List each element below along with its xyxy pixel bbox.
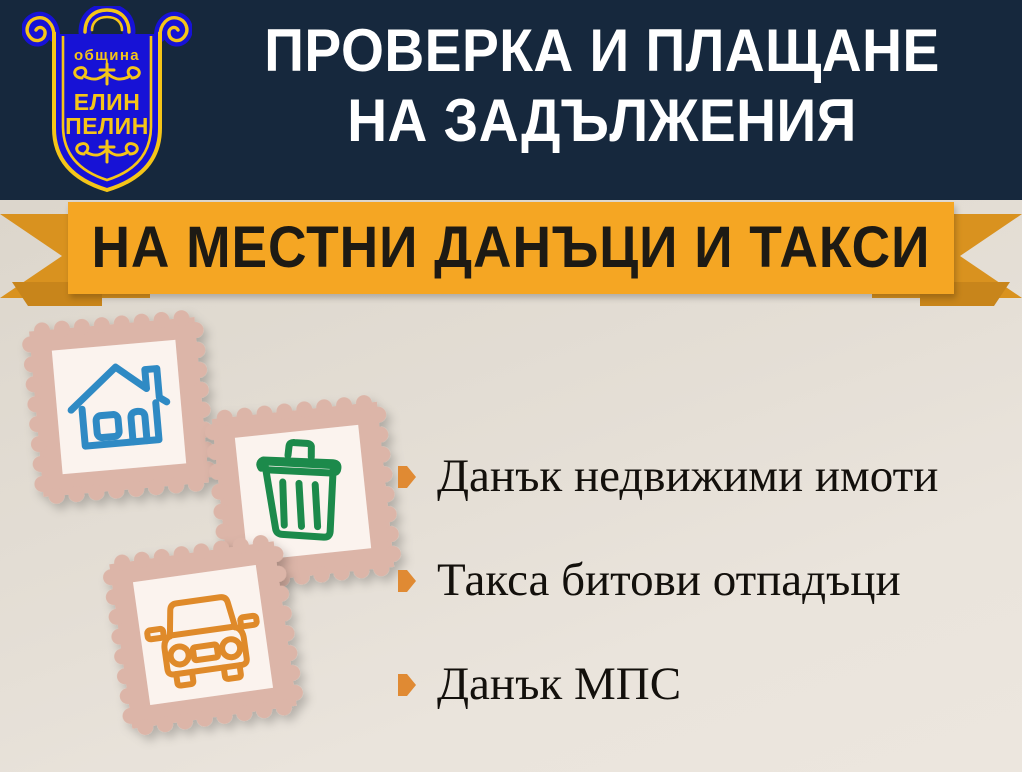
list-item[interactable]: Такса битови отпадъци (398, 528, 1008, 632)
svg-text:ПЕЛИН: ПЕЛИН (65, 113, 149, 139)
list-item-label: Такса битови отпадъци (437, 554, 901, 606)
list-item-label: Данък МПС (437, 658, 681, 710)
arrow-bullet-icon (398, 674, 416, 696)
stamp-card-house (16, 304, 222, 510)
list-item[interactable]: Данък недвижими имоти (398, 424, 1008, 528)
tax-type-list: Данък недвижими имоти Такса битови отпад… (398, 424, 1008, 736)
poster-canvas: община ЕЛИН ПЕЛИН ПРОВЕРКА И ПЛАЩАНЕ НА … (0, 0, 1022, 772)
svg-text:ЕЛИН: ЕЛИН (74, 89, 141, 115)
ribbon-banner: НА МЕСТНИ ДАНЪЦИ И ТАКСИ (68, 202, 954, 294)
coat-of-arms-icon: община ЕЛИН ПЕЛИН (22, 6, 192, 194)
ribbon-label: НА МЕСТНИ ДАНЪЦИ И ТАКСИ (92, 219, 931, 277)
page-title: ПРОВЕРКА И ПЛАЩАНЕ НА ЗАДЪЛЖЕНИЯ (196, 16, 1008, 156)
list-item-label: Данък недвижими имоти (437, 450, 938, 502)
subtitle-ribbon: НА МЕСТНИ ДАНЪЦИ И ТАКСИ (0, 198, 1022, 310)
title-line-1: ПРОВЕРКА И ПЛАЩАНЕ (228, 16, 975, 86)
svg-text:община: община (74, 47, 140, 64)
list-item[interactable]: Данък МПС (398, 632, 1008, 736)
stamp-card-car (96, 528, 311, 743)
arrow-bullet-icon (398, 466, 416, 488)
arrow-bullet-icon (398, 570, 416, 592)
title-line-2: НА ЗАДЪЛЖЕНИЯ (228, 86, 975, 156)
